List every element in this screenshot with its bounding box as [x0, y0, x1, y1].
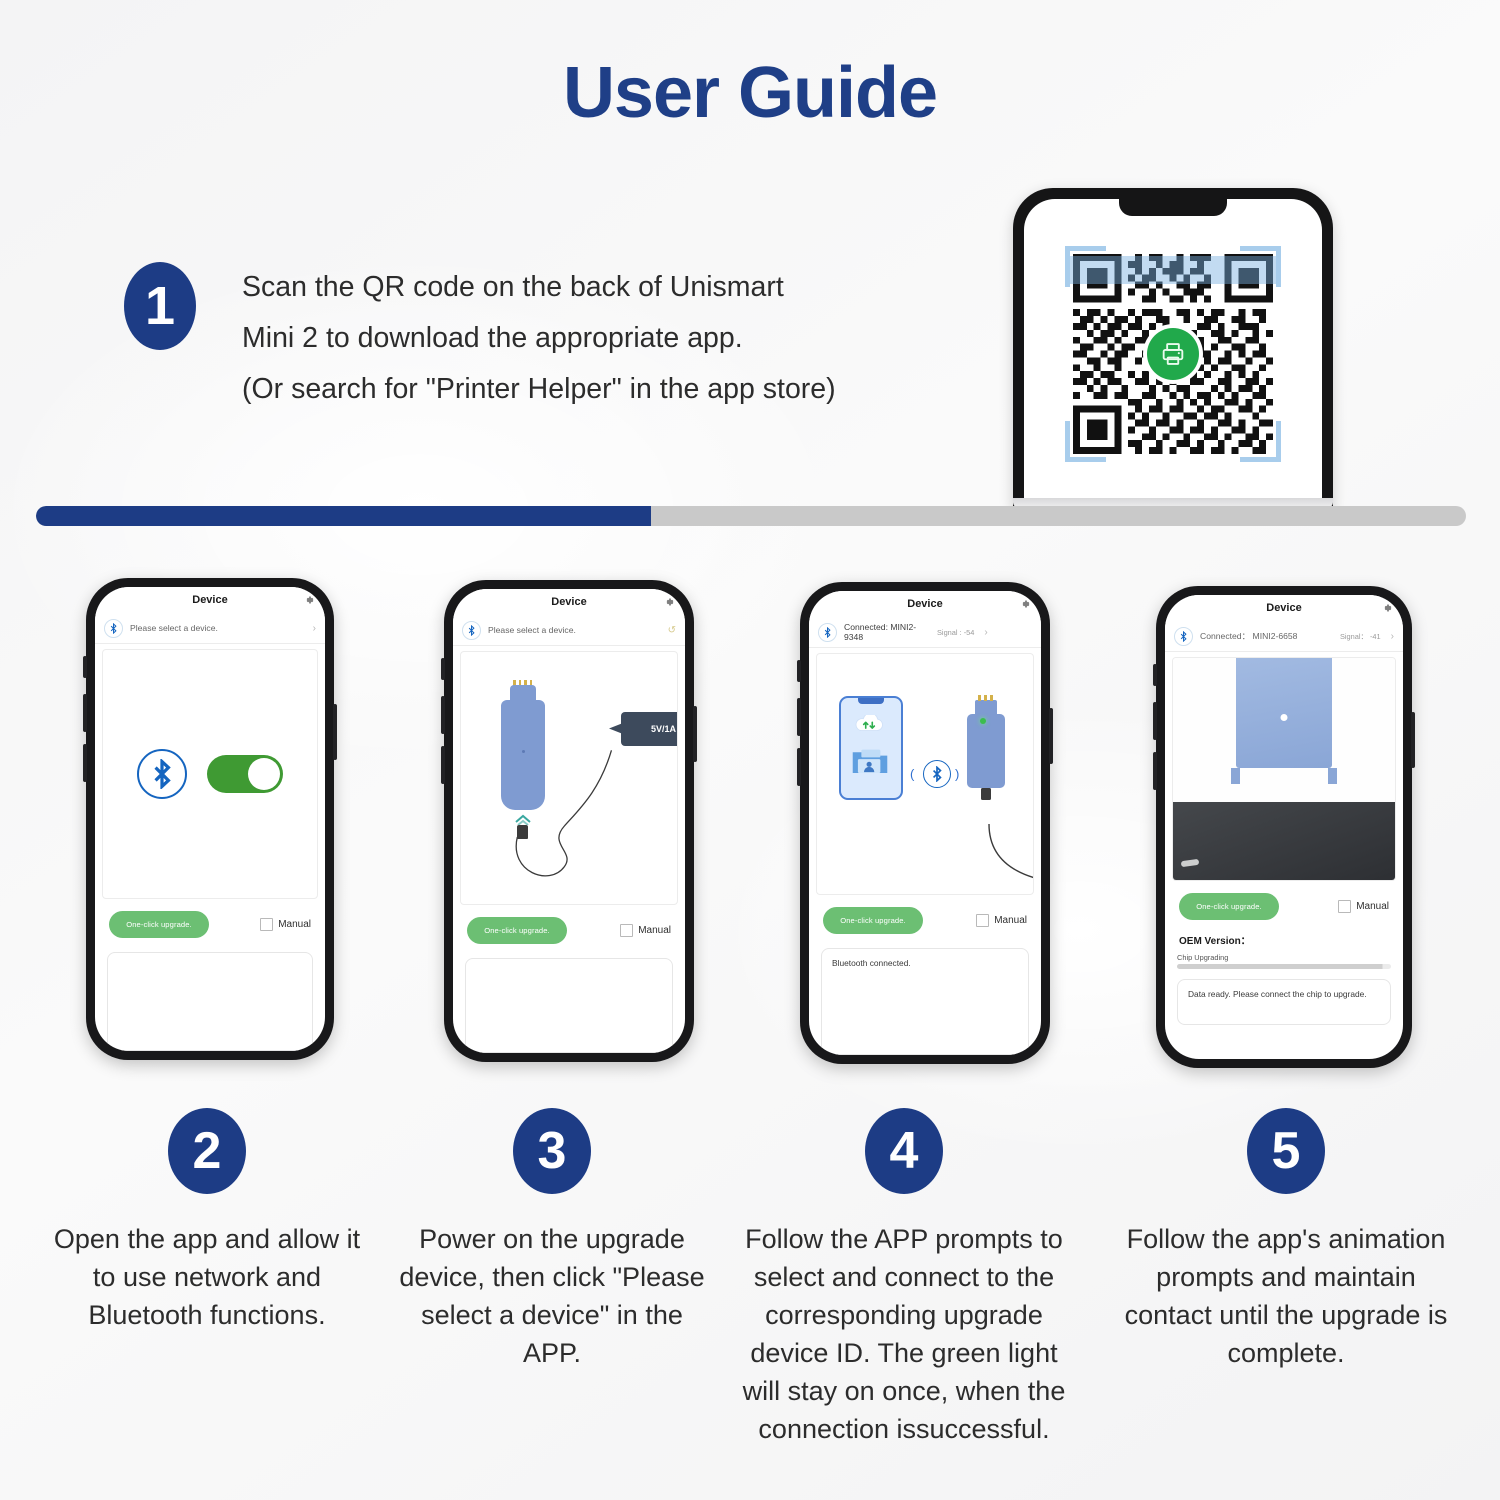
qr-code-area[interactable] [1073, 254, 1273, 454]
illustration-phone-notch [858, 698, 884, 704]
manual-label: Manual [278, 919, 311, 930]
device-connected-bar-4[interactable]: Connected: MINI2-9348 Signal : -54 › [809, 617, 1041, 648]
phone-button-volume-up [83, 694, 87, 732]
refresh-icon[interactable]: ↺ [668, 625, 676, 636]
phone-mockup-5: Device Connected： MINI2-6658 Signal： -41… [1156, 586, 1412, 1068]
phone-button-mute [441, 658, 445, 680]
manual-checkbox[interactable] [976, 914, 989, 927]
step-1-line-2: Mini 2 to download the appropriate app. [242, 313, 836, 364]
illustration-phone [839, 696, 903, 800]
connected-device-label: Connected: MINI2-9348 [844, 622, 930, 642]
bluetooth-icon-large [137, 749, 187, 799]
step-block-5: 5 Follow the app's animation prompts and… [1112, 1108, 1460, 1372]
control-row-2: One-click upgrade. Manual [95, 911, 325, 938]
phone-button-power [1411, 712, 1415, 768]
manual-checkbox-group[interactable]: Manual [620, 924, 671, 937]
control-row-3: One-click upgrade. Manual [453, 917, 685, 944]
navbar-title: Device [1266, 602, 1301, 614]
usb-plug [517, 825, 528, 839]
manual-checkbox[interactable] [260, 918, 273, 931]
app-navbar-3: Device [453, 589, 685, 615]
manual-checkbox[interactable] [620, 924, 633, 937]
step-caption-5: Follow the app's animation prompts and m… [1112, 1220, 1460, 1372]
dongle-body [501, 700, 545, 810]
qr-phone-screen [1024, 199, 1322, 508]
manual-label: Manual [1356, 901, 1389, 912]
phone-button-volume-down [441, 746, 445, 784]
scan-corner-bottom-right-icon [1240, 421, 1281, 462]
render-chip-leg-left [1231, 768, 1240, 784]
device-select-label: Please select a device. [488, 625, 658, 635]
manual-label: Manual [994, 915, 1027, 926]
step-caption-2: Open the app and allow it to use network… [48, 1220, 366, 1334]
chevron-right-icon[interactable]: › [313, 623, 316, 634]
progress-divider [36, 506, 1466, 526]
phone-button-volume-up [441, 696, 445, 734]
log-box-5: Data ready. Please connect the chip to u… [1177, 979, 1391, 1025]
control-row-4: One-click upgrade. Manual [809, 907, 1041, 934]
log-box-4: Bluetooth connected. [821, 948, 1029, 1055]
upgrade-progress-label: Chip Upgrading [1177, 953, 1391, 962]
app-navbar-4: Device [809, 591, 1041, 617]
manual-checkbox[interactable] [1338, 900, 1351, 913]
device-select-bar-2[interactable]: Please select a device. › [95, 613, 325, 644]
manual-label: Manual [638, 925, 671, 936]
bluetooth-icon-pairing [923, 760, 951, 788]
step-block-2: 2 Open the app and allow it to use netwo… [48, 1108, 366, 1334]
phone-button-power [333, 704, 337, 760]
bluetooth-wave-right-icon: ) [955, 767, 959, 782]
bluetooth-wave-left-icon: ( [910, 767, 914, 782]
dongle-led [522, 750, 525, 753]
step-number-2: 2 [168, 1108, 246, 1194]
scan-corner-top-right-icon [1240, 246, 1281, 287]
log-box-2 [107, 952, 313, 1051]
manual-checkbox-group[interactable]: Manual [1338, 900, 1389, 913]
gear-icon[interactable] [305, 595, 315, 605]
stage-bluetooth-pairing-diagram: ( ) [816, 653, 1034, 895]
user-guide-page: User Guide 1 Scan the QR code on the bac… [0, 0, 1500, 1500]
phone-button-power [1049, 708, 1053, 764]
cloud-sync-icon [852, 715, 886, 733]
step-1-line-1: Scan the QR code on the back of Unismart [242, 262, 836, 313]
step-number-5: 5 [1247, 1108, 1325, 1194]
printer-icon [1147, 328, 1199, 380]
chip-contact-3d-render [1173, 658, 1395, 880]
log-box-3 [465, 958, 673, 1053]
navbar-title: Device [907, 598, 942, 610]
adapter-connector [609, 723, 623, 734]
stage-chip-contact-render [1172, 657, 1396, 881]
gear-icon[interactable] [1383, 603, 1393, 613]
step-1-text: Scan the QR code on the back of Unismart… [242, 262, 836, 415]
phone-screenshot-row: Device Please select a device. › [0, 560, 1500, 1080]
signal-strength-label: Signal： -41 [1340, 631, 1381, 642]
step-number-4: 4 [865, 1108, 943, 1194]
one-click-upgrade-button[interactable]: One-click upgrade. [467, 917, 567, 944]
step-number-1: 1 [124, 262, 196, 350]
power-adapter: 5V/1A [621, 712, 678, 746]
stage-dongle-power-diagram: 5V/1A [460, 651, 678, 905]
phone-notch [1119, 199, 1227, 216]
insert-arrow-icon [513, 813, 533, 825]
app-screen-2: Device Please select a device. › [95, 587, 325, 1051]
manual-checkbox-group[interactable]: Manual [976, 914, 1027, 927]
phone-button-mute [83, 656, 87, 678]
bluetooth-icon [1174, 627, 1193, 646]
phone-mockup-2: Device Please select a device. › [86, 578, 334, 1060]
bluetooth-toggle[interactable] [207, 755, 283, 793]
phone-button-volume-down [797, 748, 801, 786]
device-connected-bar-5[interactable]: Connected： MINI2-6658 Signal： -41 › [1165, 621, 1403, 652]
manual-checkbox-group[interactable]: Manual [260, 918, 311, 931]
progress-divider-fill [36, 506, 651, 526]
upgrade-progress-track [1177, 964, 1391, 969]
stage-bluetooth-toggle [102, 649, 318, 899]
step-block-4: 4 Follow the APP prompts to select and c… [728, 1108, 1080, 1448]
phone-mockup-4: Device Connected: MINI2-9348 Signal : -5… [800, 582, 1050, 1064]
signal-strength-label: Signal : -54 [937, 628, 974, 637]
qr-phone-mockup [1013, 188, 1333, 508]
bluetooth-icon [818, 623, 837, 642]
bluetooth-icon [104, 619, 123, 638]
one-click-upgrade-button[interactable]: One-click upgrade. [109, 911, 209, 938]
app-screen-3: Device Please select a device. ↺ [453, 589, 685, 1053]
one-click-upgrade-button[interactable]: One-click upgrade. [1179, 893, 1279, 920]
toggle-knob [248, 758, 280, 790]
folder-user-icon [851, 745, 889, 775]
app-screen-4: Device Connected: MINI2-9348 Signal : -5… [809, 591, 1041, 1055]
app-navbar-5: Device [1165, 595, 1403, 621]
one-click-upgrade-button[interactable]: One-click upgrade. [823, 907, 923, 934]
step-1-line-3: (Or search for "Printer Helper" in the a… [242, 364, 836, 415]
render-chip-dot [1281, 714, 1288, 721]
step-number-3: 3 [513, 1108, 591, 1194]
render-cartridge-base [1173, 802, 1395, 880]
illustration-dongle [963, 694, 1009, 804]
navbar-title: Device [192, 594, 227, 606]
scan-corner-top-left-icon [1065, 246, 1106, 287]
navbar-title: Device [551, 596, 586, 608]
phone-button-volume-up [1153, 702, 1157, 740]
phone-button-volume-up [797, 698, 801, 736]
dongle-cable [955, 824, 1034, 894]
chevron-right-icon[interactable]: › [1391, 631, 1394, 642]
step-caption-3: Power on the upgrade device, then click … [392, 1220, 712, 1372]
upgrade-progress: Chip Upgrading [1177, 953, 1391, 969]
gear-icon[interactable] [1021, 599, 1031, 609]
render-base-notch [1181, 859, 1200, 867]
phone-button-mute [1153, 664, 1157, 686]
device-select-label: Please select a device. [130, 623, 303, 633]
render-chip-module [1236, 658, 1332, 768]
dongle-green-led [980, 718, 986, 724]
adapter-label: 5V/1A [651, 724, 676, 734]
device-select-bar-3[interactable]: Please select a device. ↺ [453, 615, 685, 646]
connected-device-label: Connected： MINI2-6658 [1200, 631, 1333, 641]
phone-button-volume-down [83, 744, 87, 782]
phone-button-power [693, 706, 697, 762]
render-chip-leg-right [1328, 768, 1337, 784]
phone-button-volume-down [1153, 752, 1157, 790]
step-1-block: 1 Scan the QR code on the back of Unisma… [124, 262, 836, 415]
step-block-3: 3 Power on the upgrade device, then clic… [392, 1108, 712, 1372]
page-title: User Guide [0, 52, 1500, 134]
app-navbar-2: Device [95, 587, 325, 613]
oem-version-label: OEM Version： [1179, 932, 1403, 947]
control-row-5: One-click upgrade. Manual [1165, 893, 1403, 920]
gear-icon[interactable] [665, 597, 675, 607]
step-caption-4: Follow the APP prompts to select and con… [728, 1220, 1080, 1448]
scan-corner-bottom-left-icon [1065, 421, 1106, 462]
phone-mockup-3: Device Please select a device. ↺ [444, 580, 694, 1062]
app-screen-5: Device Connected： MINI2-6658 Signal： -41… [1165, 595, 1403, 1059]
bluetooth-icon [462, 621, 481, 640]
usb-cable [461, 652, 677, 904]
chevron-right-icon[interactable]: › [984, 627, 987, 638]
phone-button-mute [797, 660, 801, 682]
